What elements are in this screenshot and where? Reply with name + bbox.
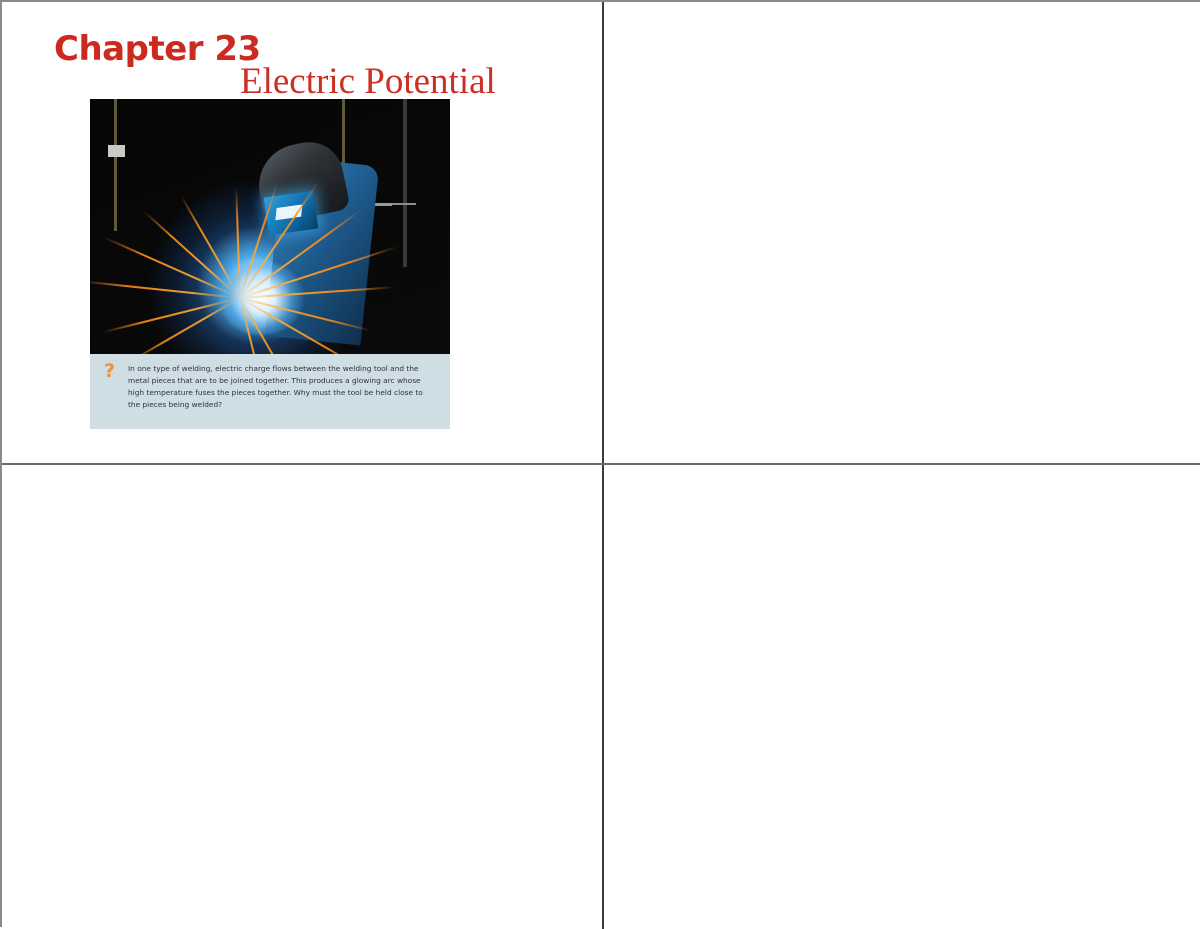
- chapter-title: Electric Potential: [240, 60, 496, 103]
- slide-title: Chapter 23 Electric Potential: [2, 2, 603, 464]
- welding-caption: ? In one type of welding, electric charg…: [90, 354, 450, 429]
- vertical-divider: [602, 2, 604, 929]
- question-mark-icon: ?: [104, 362, 115, 381]
- slide-energy-uniform-field: Electric potential energy in a uniform f…: [603, 464, 1200, 929]
- slide-introduction: Introduction How is electric potential r…: [2, 464, 603, 929]
- welding-caption-text: In one type of welding, electric charge …: [128, 363, 436, 411]
- slide-goals: Goals for Chapter 23 To calculate electr…: [603, 2, 1200, 464]
- handout-page: Chapter 23 Electric Potential: [0, 0, 1200, 927]
- welding-photograph: [90, 99, 450, 354]
- welding-figure-panel: ? In one type of welding, electric charg…: [90, 99, 450, 429]
- chapter-number: Chapter 23: [54, 29, 261, 69]
- horizontal-divider: [2, 463, 1200, 465]
